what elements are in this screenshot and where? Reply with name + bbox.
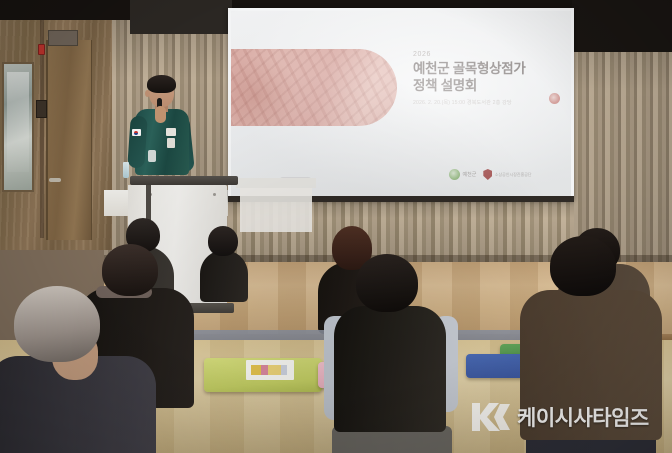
audience-front-vest xyxy=(330,254,454,453)
presentation-hall-photo: 2026 예천군 골목형상점가 정책 설명회 2026. 2. 20.(목) 1… xyxy=(0,0,672,453)
audience-body xyxy=(200,250,248,302)
yecheon-logo-label: 예천군 xyxy=(463,171,477,178)
small-business-agency-logo: 소상공인시장진흥공단 xyxy=(483,169,531,180)
door-transom-vent xyxy=(48,30,78,46)
lectern-screw xyxy=(213,193,216,196)
projection-screen: 2026 예천군 골목형상점가 정책 설명회 2026. 2. 20.(목) 1… xyxy=(231,11,571,197)
slide-photo-block xyxy=(231,49,397,126)
watermark: 케이시사타임즈 xyxy=(470,400,649,434)
door-switch-plate[interactable] xyxy=(36,100,47,118)
audience-body xyxy=(334,306,446,432)
presenter-hair xyxy=(147,75,176,93)
ceiling-block-left xyxy=(130,0,232,34)
slide-text-block: 2026 예천군 골목형상점가 정책 설명회 2026. 2. 20.(목) 1… xyxy=(413,51,561,106)
side-table-panel xyxy=(240,188,312,232)
presenter-hand xyxy=(155,106,166,123)
presenter-name-badge xyxy=(166,128,176,136)
slide-meta-info: 2026. 2. 20.(목) 15:00 경북도서관 2층 강당 xyxy=(413,99,561,106)
slide-footer-logos: 예천군 소상공인시장진흥공단 xyxy=(449,169,532,180)
korean-flag-patch-icon xyxy=(132,129,141,136)
presenter-ear xyxy=(145,90,150,97)
audience-back-center xyxy=(200,226,246,296)
audience-head xyxy=(356,254,418,312)
presenter-left-arm xyxy=(127,115,148,168)
wall-window xyxy=(2,62,34,192)
slide-accent-dot xyxy=(549,93,560,104)
presenter-id-lanyard xyxy=(148,150,156,162)
kc-monogram-icon xyxy=(470,400,512,434)
audience-front-elder-grey xyxy=(0,286,150,453)
ceiling-block-right xyxy=(572,0,672,52)
slide-title-line2: 정책 설명회 xyxy=(413,78,561,94)
audience-head xyxy=(14,286,100,362)
side-table-top xyxy=(236,178,316,188)
handout-leaflet xyxy=(246,360,294,380)
fire-alarm-light xyxy=(38,44,45,55)
shield-icon xyxy=(483,169,492,180)
slide-title-line1: 예천군 골목형상점가 xyxy=(413,61,561,77)
door-handle[interactable] xyxy=(49,178,61,182)
audience-head xyxy=(208,226,238,256)
lectern-top-surface xyxy=(130,176,238,185)
water-bottle xyxy=(123,162,129,178)
presenter-emblem-badge xyxy=(167,138,175,148)
yecheon-county-logo: 예천군 xyxy=(449,169,476,180)
presenter-speaker xyxy=(126,76,200,188)
entrance-door[interactable] xyxy=(46,40,92,240)
audience-head xyxy=(550,236,616,296)
watermark-text: 케이시사타임즈 xyxy=(517,402,649,432)
slide-year: 2026 xyxy=(413,51,561,58)
agency-logo-label: 소상공인시장진흥공단 xyxy=(495,172,532,178)
yecheon-emblem-icon xyxy=(449,169,460,180)
